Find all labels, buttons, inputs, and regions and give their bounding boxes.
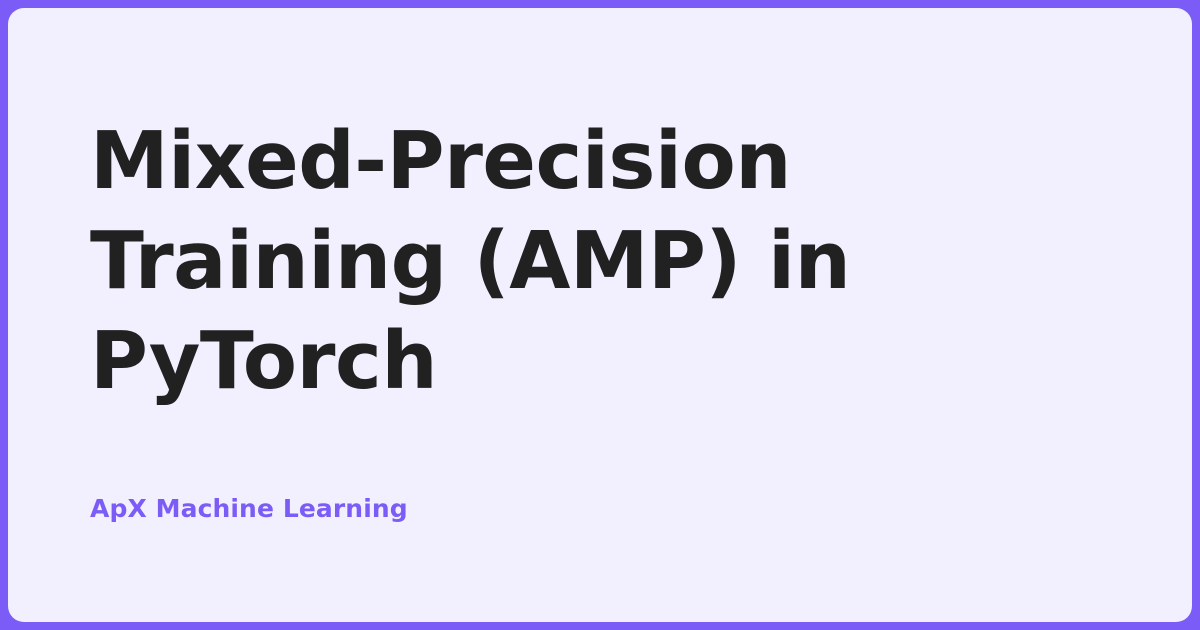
title-block: Mixed-Precision Training (AMP) in PyTorc…	[90, 111, 1122, 411]
card-content: Mixed-Precision Training (AMP) in PyTorc…	[90, 8, 1122, 622]
social-share-card: Mixed-Precision Training (AMP) in PyTorc…	[0, 0, 1200, 630]
page-title: Mixed-Precision Training (AMP) in PyTorc…	[90, 111, 1100, 411]
brand-name: ApX Machine Learning	[90, 492, 408, 526]
brand-block: ApX Machine Learning	[90, 492, 408, 526]
card-inner-panel: Mixed-Precision Training (AMP) in PyTorc…	[8, 8, 1192, 622]
